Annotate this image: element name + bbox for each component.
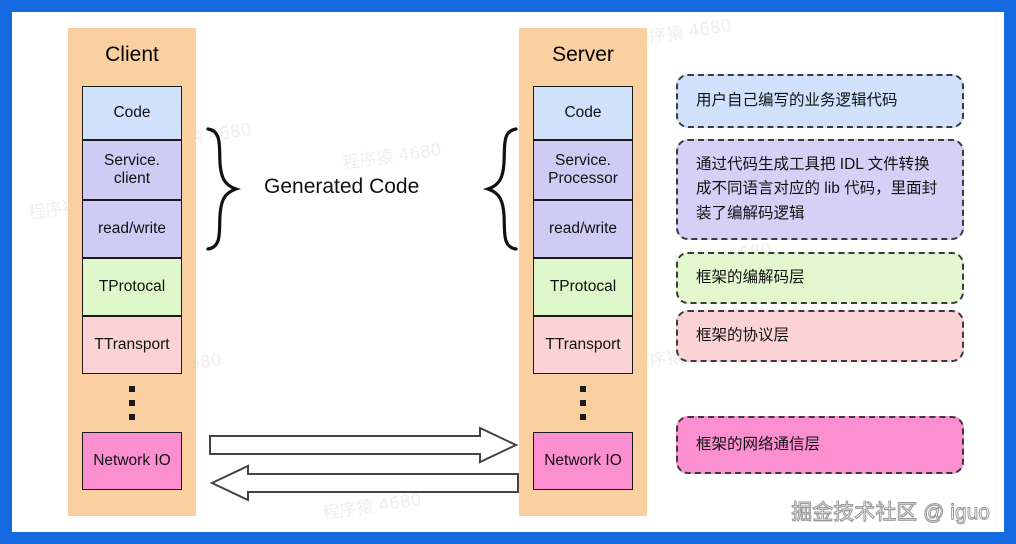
server-layer-network-io[interactable]: Network IO xyxy=(533,432,633,490)
note-network-layer-text: 框架的网络通信层 xyxy=(696,433,820,457)
footer-watermark: 掘金技术社区 @ iguo xyxy=(791,496,990,526)
server-layer-read-write[interactable]: read/write xyxy=(533,200,633,258)
server-layer-tprotocal[interactable]: TProtocal xyxy=(533,258,633,316)
client-layer-ttransport[interactable]: TTransport xyxy=(82,316,182,374)
client-layer-service-client[interactable]: Service. client xyxy=(82,140,182,200)
arrow-right-icon xyxy=(208,426,520,464)
note-network-layer[interactable]: 框架的网络通信层 xyxy=(676,416,964,474)
client-layer-network-io[interactable]: Network IO xyxy=(82,432,182,490)
server-stack: Server Code Service. Processor read/writ… xyxy=(519,28,647,516)
note-business-logic[interactable]: 用户自己编写的业务逻辑代码 xyxy=(676,74,964,128)
server-vertical-ellipsis-icon xyxy=(580,386,586,420)
client-title: Client xyxy=(68,40,196,70)
client-layer-code[interactable]: Code xyxy=(82,86,182,140)
client-stack: Client Code Service. client read/write T… xyxy=(68,28,196,516)
left-curly-brace-icon xyxy=(202,125,246,253)
server-layer-service-processor[interactable]: Service. Processor xyxy=(533,140,633,200)
generated-code-label: Generated Code xyxy=(264,175,419,199)
server-service-line2: Processor xyxy=(548,170,618,187)
server-title: Server xyxy=(519,40,647,70)
client-service-line2: client xyxy=(114,170,150,187)
arrow-left-icon xyxy=(208,464,520,502)
note-protocol-layer[interactable]: 框架的协议层 xyxy=(676,310,964,362)
server-layer-ttransport[interactable]: TTransport xyxy=(533,316,633,374)
client-vertical-ellipsis-icon xyxy=(129,386,135,420)
server-service-line1: Service. xyxy=(555,152,611,169)
note-codec-layer[interactable]: 框架的编解码层 xyxy=(676,252,964,304)
client-layer-read-write[interactable]: read/write xyxy=(82,200,182,258)
note-business-logic-text: 用户自己编写的业务逻辑代码 xyxy=(696,89,898,113)
client-layer-tprotocal[interactable]: TProtocal xyxy=(82,258,182,316)
note-protocol-layer-text: 框架的协议层 xyxy=(696,324,789,348)
note-codec-layer-text: 框架的编解码层 xyxy=(696,266,805,290)
right-curly-brace-icon xyxy=(478,125,522,253)
note-generated-lib[interactable]: 通过代码生成工具把 IDL 文件转换成不同语言对应的 lib 代码，里面封装了编… xyxy=(676,139,964,240)
diagram-canvas: 程序猿 4680 程序猿 4680 程序猿 4680 程序猿 4680 程序猿 … xyxy=(12,12,1004,532)
screenshot-frame: 程序猿 4680 程序猿 4680 程序猿 4680 程序猿 4680 程序猿 … xyxy=(0,0,1016,544)
note-generated-lib-text: 通过代码生成工具把 IDL 文件转换成不同语言对应的 lib 代码，里面封装了编… xyxy=(696,153,944,225)
client-service-line1: Service. xyxy=(104,152,160,169)
server-layer-code[interactable]: Code xyxy=(533,86,633,140)
watermark-tile: 程序猿 4680 xyxy=(341,135,443,174)
